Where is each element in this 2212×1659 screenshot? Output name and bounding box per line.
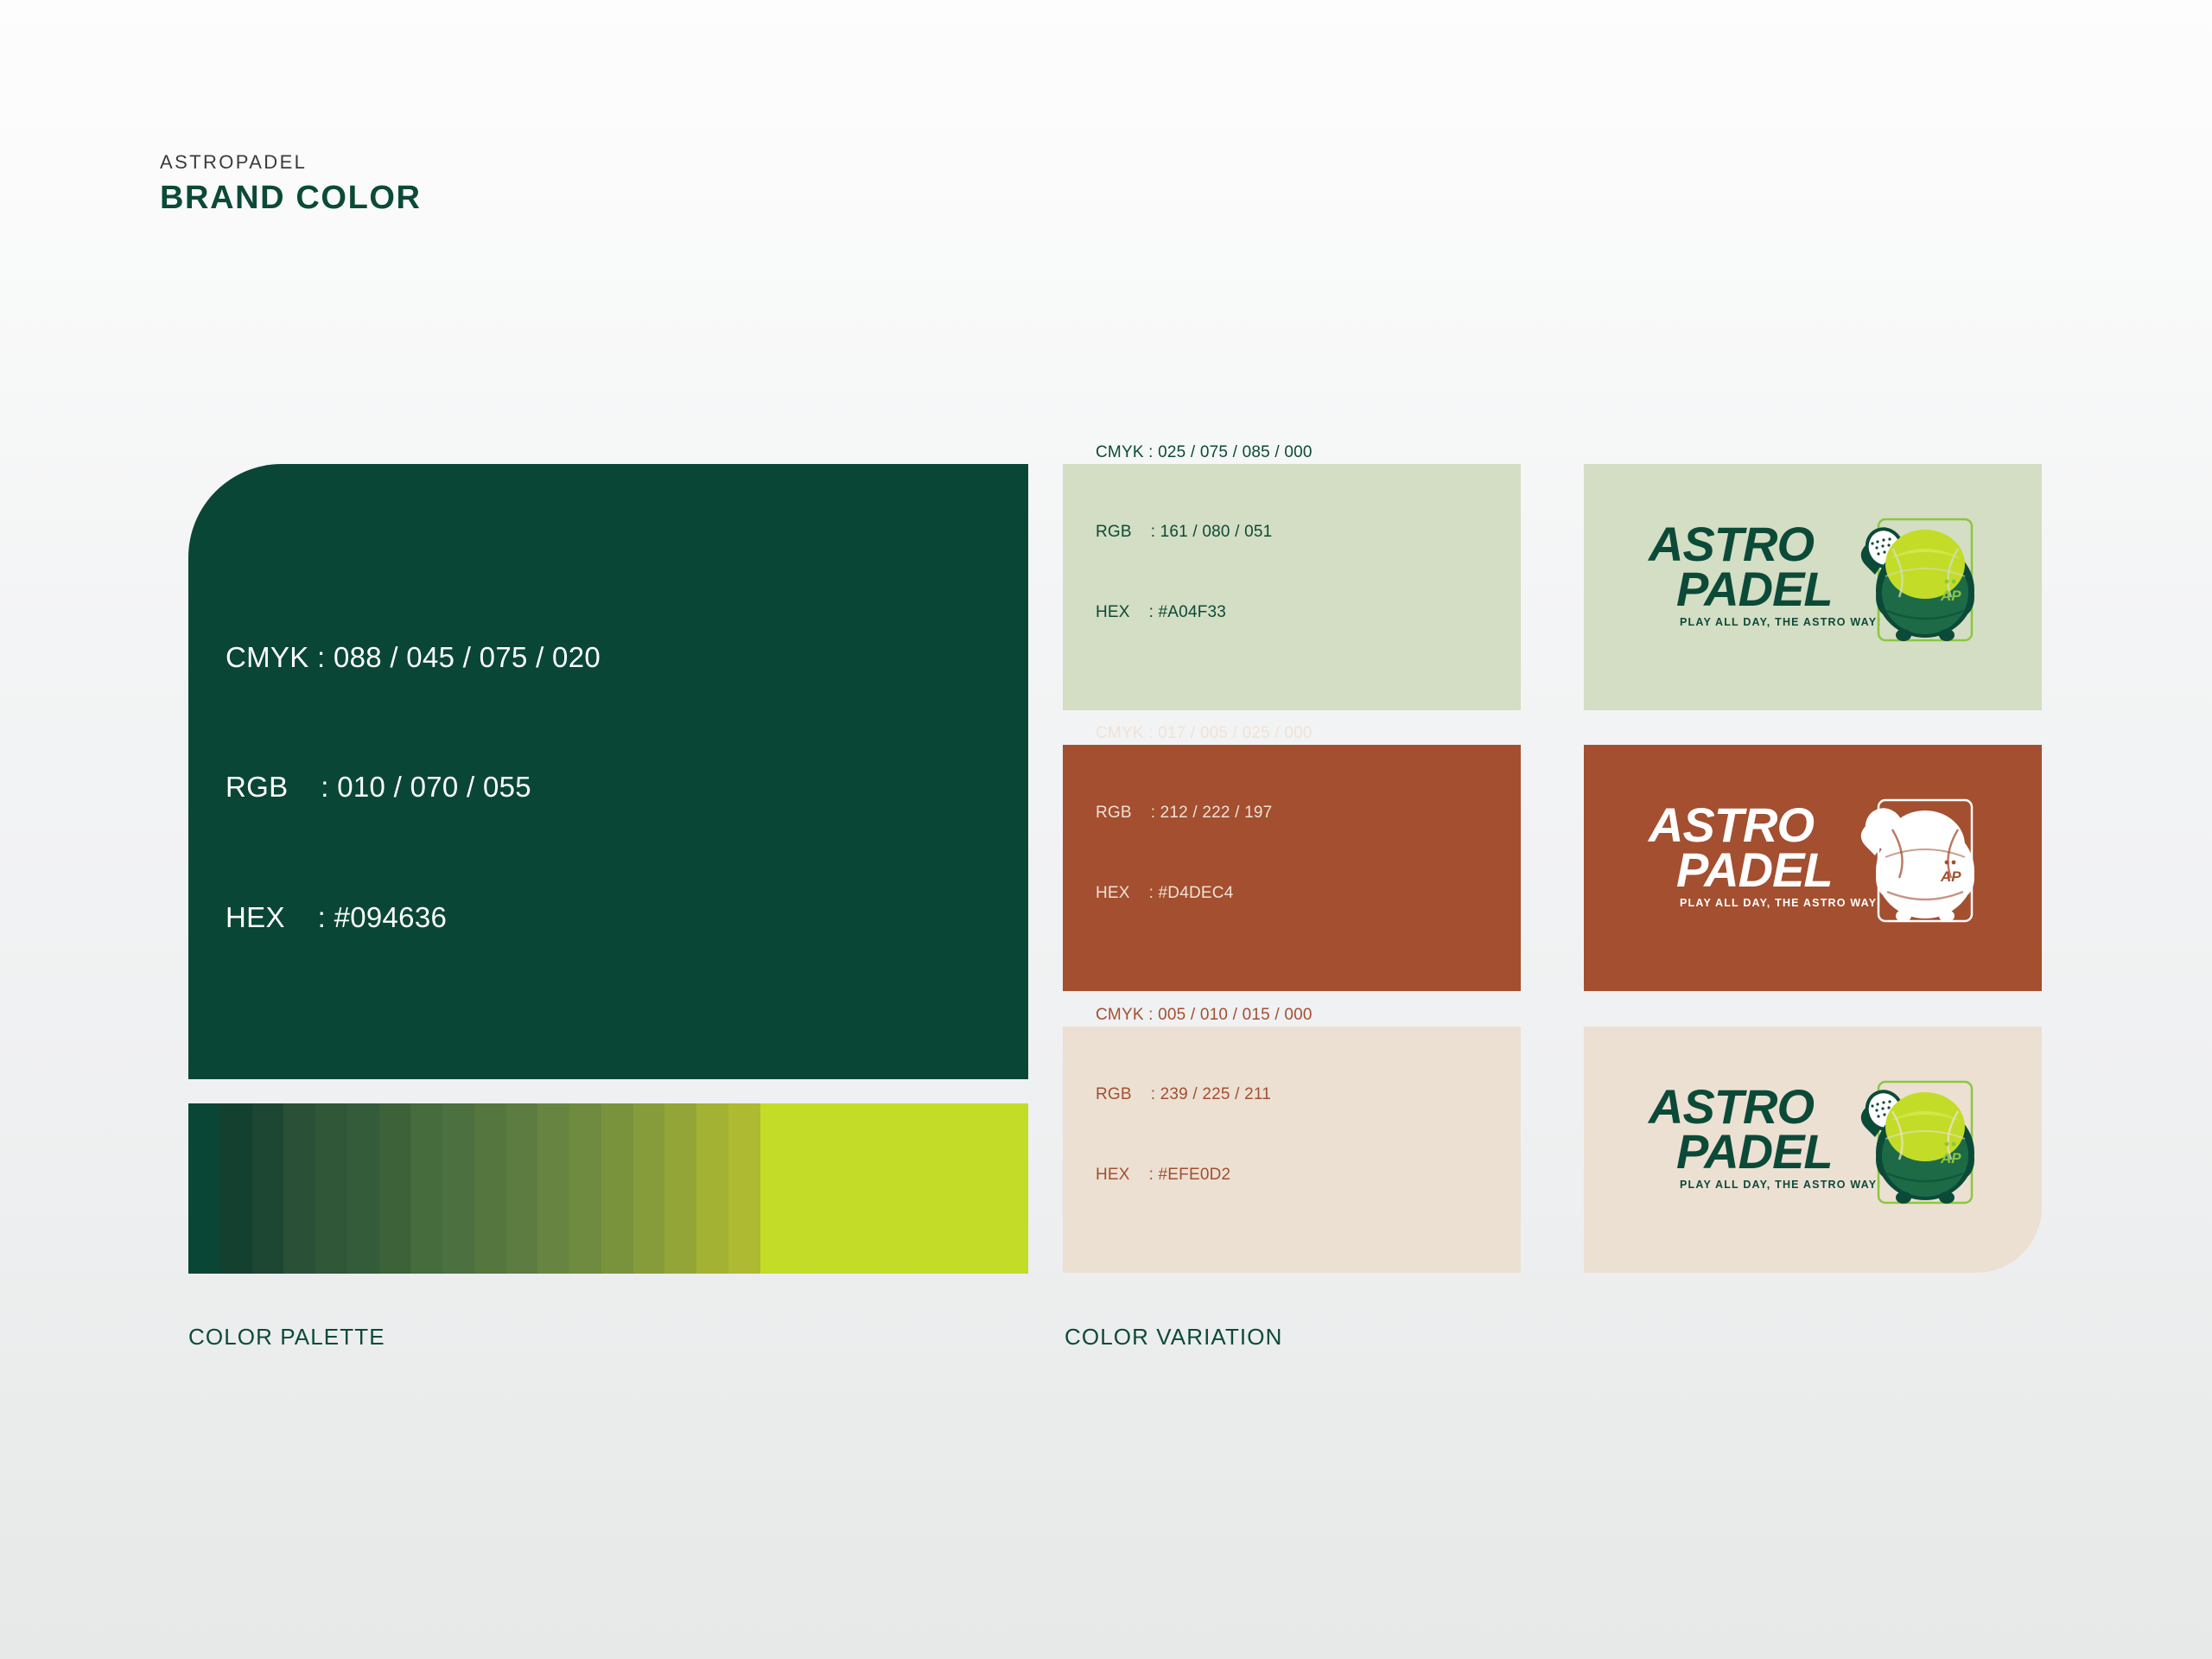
variation-cmyk-value-2: CMYK : 017 / 005 / 025 / 000 [1096,721,1313,747]
palette-step-17 [696,1103,728,1274]
wordmark-line-padel: PADEL [1676,1124,1833,1179]
logo-astronaut-mark: AP [1861,519,1974,641]
wordmark-line-padel: PADEL [1676,842,1833,897]
palette-step-13 [569,1103,601,1274]
variation-rgb-value-1: RGB : 161 / 080 / 051 [1096,519,1313,546]
logo-wordmark: ASTRO PADEL PLAY ALL DAY, THE ASTRO WAY! [1647,1079,1882,1191]
palette-step-18 [728,1103,760,1274]
palette-step-6 [347,1103,379,1274]
primary-cmyk-value: CMYK : 088 / 045 / 075 / 020 [226,636,601,679]
brand-name-eyebrow: ASTROPADEL [160,151,422,174]
color-palette-strip [188,1103,1028,1274]
wordmark-line-padel: PADEL [1676,562,1833,616]
palette-step-12 [537,1103,569,1274]
variation-specs-2: CMYK : 017 / 005 / 025 / 000 RGB : 212 /… [1096,668,1313,960]
palette-step-19 [760,1103,1028,1274]
palette-step-2 [220,1103,252,1274]
logo-astronaut-mark: AP [1861,1082,1974,1204]
variation-rgb-value-3: RGB : 239 / 225 / 211 [1096,1082,1313,1109]
palette-step-1 [188,1103,220,1274]
palette-step-7 [379,1103,411,1274]
logo-tagline: PLAY ALL DAY, THE ASTRO WAY! [1680,1179,1882,1191]
palette-step-10 [474,1103,506,1274]
palette-step-15 [633,1103,665,1274]
color-palette-label: COLOR PALETTE [188,1325,385,1348]
page-title: BRAND COLOR [160,181,422,217]
primary-color-specs: CMYK : 088 / 045 / 075 / 020 RGB : 010 /… [226,549,601,1026]
logo-wordmark: ASTRO PADEL PLAY ALL DAY, THE ASTRO WAY! [1647,798,1882,909]
astropadel-logo-mark: ASTRO PADEL PLAY ALL DAY, THE ASTRO WAY! [1640,1070,1986,1230]
logo-preview-card-1-logo-on-light-sage: ASTRO PADEL PLAY ALL DAY, THE ASTRO WAY! [1584,464,2042,710]
variation-cmyk-value-3: CMYK : 005 / 010 / 015 / 000 [1096,1002,1313,1029]
logo-preview-card-2-logo-on-rust: ASTRO PADEL PLAY ALL DAY, THE ASTRO WAY! [1584,745,2042,991]
variation-rgb-value-2: RGB : 212 / 222 / 197 [1096,800,1313,827]
page-header: ASTROPADEL BRAND COLOR [160,151,422,217]
palette-step-5 [315,1103,347,1274]
primary-color-swatch: CMYK : 088 / 045 / 075 / 020 RGB : 010 /… [188,464,1028,1079]
primary-rgb-value: RGB : 010 / 070 / 055 [226,766,601,809]
logo-tagline: PLAY ALL DAY, THE ASTRO WAY! [1680,897,1882,909]
palette-step-3 [252,1103,284,1274]
palette-step-14 [601,1103,633,1274]
astropadel-logo-mark: ASTRO PADEL PLAY ALL DAY, THE ASTRO WAY! [1640,788,1986,948]
primary-hex-value: HEX : #094636 [226,896,601,939]
astropadel-logo-mark: ASTRO PADEL PLAY ALL DAY, THE ASTRO WAY! [1640,507,1986,667]
logo-wordmark: ASTRO PADEL PLAY ALL DAY, THE ASTRO WAY! [1647,517,1882,628]
palette-step-8 [410,1103,442,1274]
brand-color-guideline-page: ASTROPADEL BRAND COLOR CMYK : 088 / 045 … [0,0,2212,1659]
variation-hex-value-3: HEX : #EFE0D2 [1096,1162,1313,1189]
logo-monogram: AP [1940,588,1961,604]
variation-cmyk-value-1: CMYK : 025 / 075 / 085 / 000 [1096,440,1313,467]
color-variation-label: COLOR VARIATION [1065,1325,1282,1348]
logo-monogram: AP [1940,868,1961,885]
variation-hex-value-2: HEX : #D4DEC4 [1096,880,1313,907]
palette-step-16 [664,1103,696,1274]
variation-specs-1: CMYK : 025 / 075 / 085 / 000 RGB : 161 /… [1096,387,1313,679]
color-variation-card-3: CMYK : 005 / 010 / 015 / 000 RGB : 239 /… [1063,1027,1521,1273]
variation-hex-value-1: HEX : #A04F33 [1096,600,1313,626]
logo-monogram: AP [1940,1150,1961,1166]
palette-step-9 [442,1103,474,1274]
palette-step-11 [506,1103,538,1274]
logo-astronaut-mark: AP [1861,800,1974,922]
variation-specs-3: CMYK : 005 / 010 / 015 / 000 RGB : 239 /… [1096,950,1313,1242]
palette-step-4 [283,1103,315,1274]
logo-tagline: PLAY ALL DAY, THE ASTRO WAY! [1680,616,1882,628]
logo-preview-card-3-logo-on-cream: ASTRO PADEL PLAY ALL DAY, THE ASTRO WAY! [1584,1027,2042,1273]
